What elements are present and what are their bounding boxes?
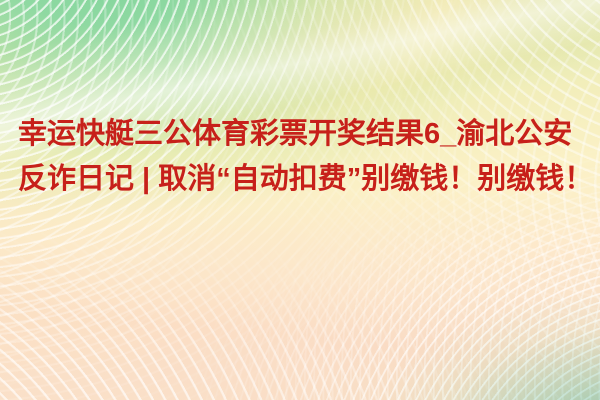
banner-image: 幸运快艇三公体育彩票开奖结果6_渝北公安 反诈日记 | 取消“自动扣费”别缴钱！… [0,0,600,400]
headline-line-2: 反诈日记 | 取消“自动扣费”别缴钱！别缴钱！ [18,157,584,202]
headline-block: 幸运快艇三公体育彩票开奖结果6_渝北公安 反诈日记 | 取消“自动扣费”别缴钱！… [18,112,584,202]
headline-line-1: 幸运快艇三公体育彩票开奖结果6_渝北公安 [18,112,584,157]
